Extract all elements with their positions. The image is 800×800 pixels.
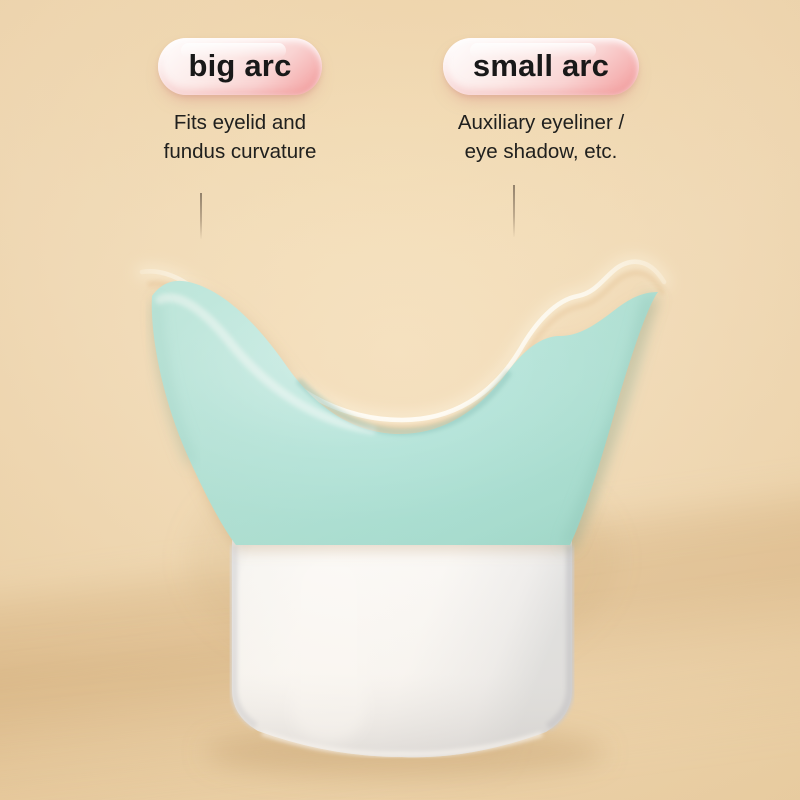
- badge-small-arc-label: small arc: [473, 48, 609, 83]
- leader-line-small-arc: [513, 185, 515, 237]
- leader-line-big-arc: [200, 193, 202, 239]
- badge-big-arc: big arc: [158, 38, 321, 95]
- badge-big-arc-label: big arc: [188, 48, 291, 83]
- product-feature-callout-image: big arc Fits eyelid and fundus curvature…: [0, 0, 800, 800]
- callout-big-arc: big arc Fits eyelid and fundus curvature: [110, 38, 370, 166]
- callout-small-arc: small arc Auxiliary eyeliner / eye shado…: [430, 38, 652, 166]
- caption-small-arc: Auxiliary eyeliner / eye shadow, etc.: [430, 108, 652, 166]
- caption-big-arc: Fits eyelid and fundus curvature: [110, 108, 370, 166]
- badge-small-arc: small arc: [443, 38, 639, 95]
